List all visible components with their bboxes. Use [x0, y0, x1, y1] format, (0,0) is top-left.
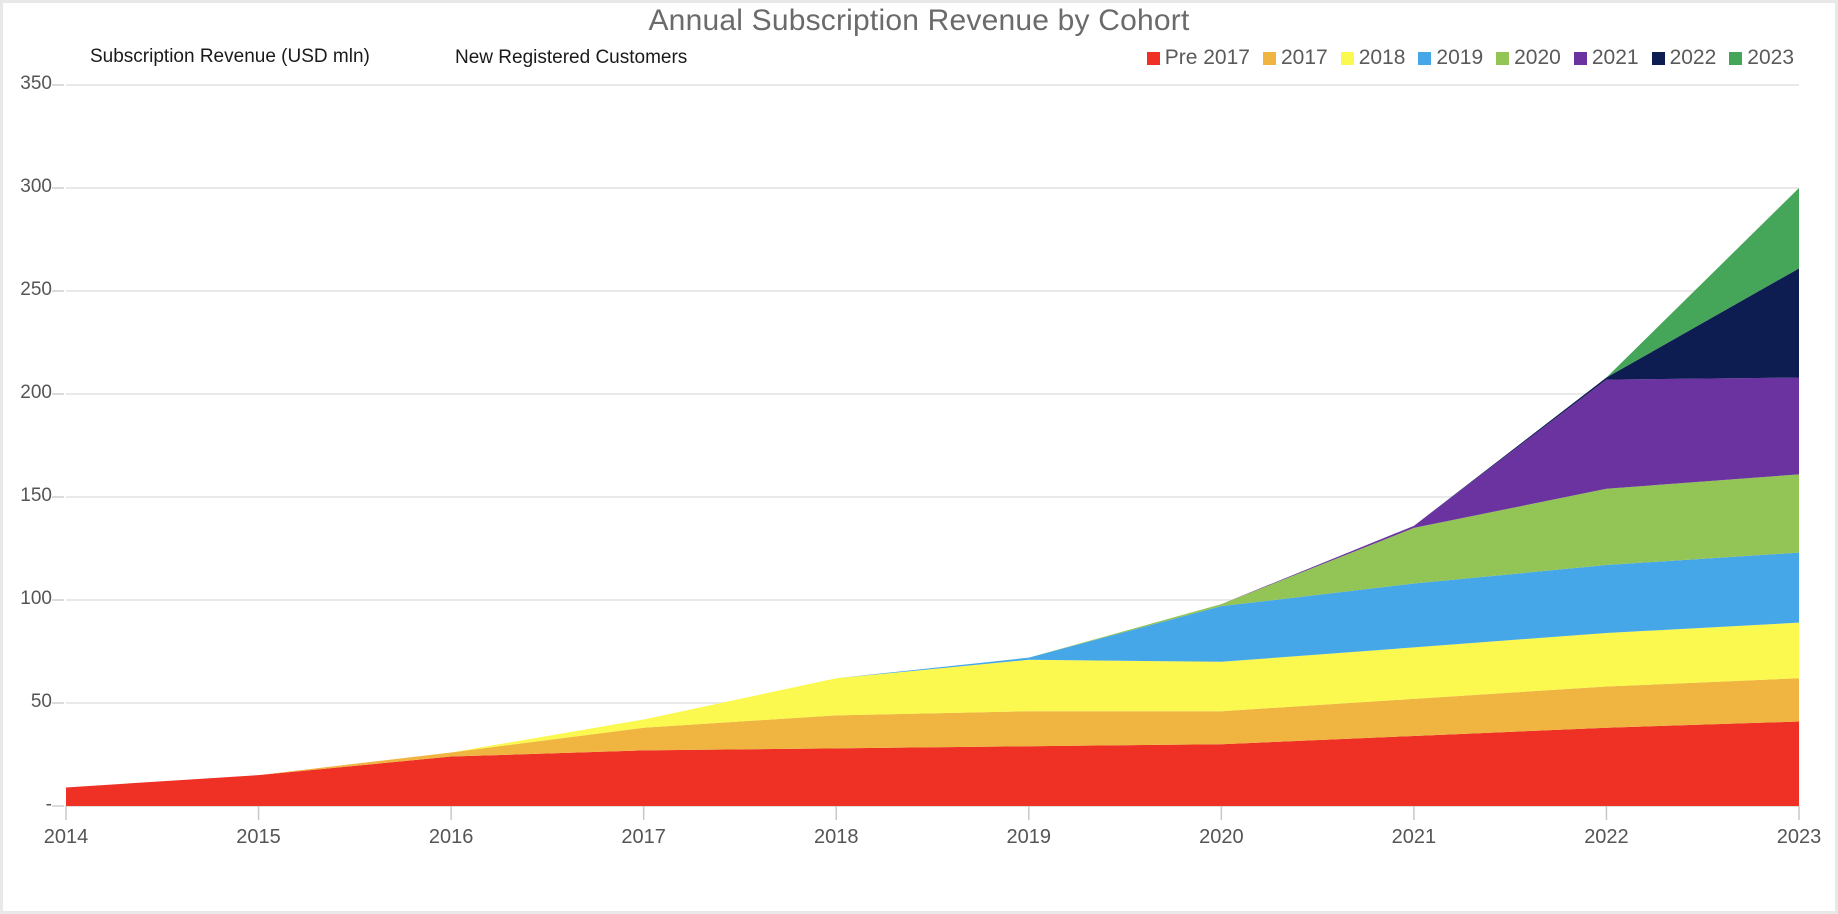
- chart-container: Annual Subscription Revenue by Cohort Su…: [0, 0, 1838, 914]
- y-axis-tick-label: 200: [0, 382, 52, 404]
- stacked-area-svg: [0, 0, 1838, 914]
- y-axis-tick-label: 300: [0, 176, 52, 198]
- y-axis-tick-label: 250: [0, 279, 52, 301]
- y-axis-tick-label: 100: [0, 588, 52, 610]
- y-axis-tick-label: -: [0, 794, 52, 816]
- x-axis-tick-label: 2017: [599, 826, 689, 849]
- x-axis-tick-label: 2015: [214, 826, 304, 849]
- x-axis-tick-label: 2020: [1176, 826, 1266, 849]
- x-axis-tick-label: 2021: [1369, 826, 1459, 849]
- x-axis-tick-label: 2019: [984, 826, 1074, 849]
- x-axis-ticks: [66, 806, 1799, 820]
- x-axis-tick-label: 2022: [1561, 826, 1651, 849]
- plot-area: [0, 0, 1838, 914]
- x-axis-tick-label: 2018: [791, 826, 881, 849]
- x-axis-tick-label: 2016: [406, 826, 496, 849]
- y-axis-tick-label: 150: [0, 485, 52, 507]
- x-axis-tick-label: 2014: [21, 826, 111, 849]
- y-axis-tickmarks: [52, 85, 64, 806]
- y-axis-tick-label: 350: [0, 73, 52, 95]
- y-axis-tick-label: 50: [0, 691, 52, 713]
- x-axis-tick-label: 2023: [1754, 826, 1838, 849]
